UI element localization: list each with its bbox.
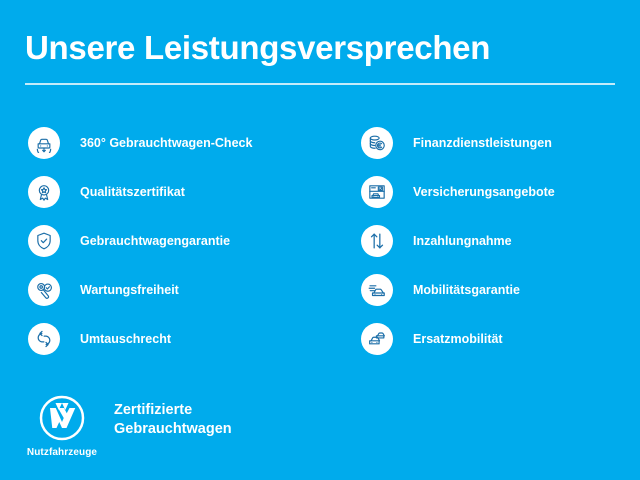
promise-item-wartungsfreiheit: Wartungsfreiheit: [28, 274, 328, 306]
promise-label: Ersatzmobilität: [413, 331, 503, 347]
exchange-arrows-icon: [28, 323, 60, 355]
service-promises-slide: Unsere Leistungsversprechen 360° Gebrauc…: [0, 0, 640, 480]
page-title: Unsere Leistungsversprechen: [25, 28, 490, 68]
brand-logo-subtitle: Nutzfahrzeuge: [27, 447, 97, 458]
promise-item-ersatzmobilitaet: Ersatzmobilität: [361, 323, 631, 355]
promise-label: Finanzdienstleistungen: [413, 135, 552, 151]
promise-item-umtauschrecht: Umtauschrecht: [28, 323, 328, 355]
promise-item-inzahlungnahme: Inzahlungnahme: [361, 225, 631, 257]
promise-label: Qualitätszertifikat: [80, 184, 185, 200]
insurance-document-car-icon: [361, 176, 393, 208]
coins-euro-icon: [361, 127, 393, 159]
shield-check-icon: [28, 225, 60, 257]
promise-label: Inzahlungnahme: [413, 233, 512, 249]
promise-label: Umtauschrecht: [80, 331, 171, 347]
wrench-check-icon: [28, 274, 60, 306]
brand-logo-wrap: Nutzfahrzeuge: [24, 393, 100, 458]
promise-item-gebrauchtwagengarantie: Gebrauchtwagengarantie: [28, 225, 328, 257]
promise-label: Versicherungsangebote: [413, 184, 555, 200]
promise-label: Wartungsfreiheit: [80, 282, 179, 298]
car-inspection-icon: [28, 127, 60, 159]
brand-claim-line-2: Gebrauchtwagen: [114, 420, 232, 439]
promise-item-mobilitaetsgarantie: Mobilitätsgarantie: [361, 274, 631, 306]
brand-claim: Zertifizierte Gebrauchtwagen: [114, 401, 232, 439]
promise-list-right: Finanzdienstleistungen Versicherungsange…: [361, 127, 631, 372]
vw-roundel-icon: [37, 393, 87, 443]
promise-list-left: 360° Gebrauchtwagen-Check Qualitätszerti…: [28, 127, 328, 372]
up-down-arrows-icon: [361, 225, 393, 257]
award-rosette-icon: [28, 176, 60, 208]
promise-item-versicherungsangebote: Versicherungsangebote: [361, 176, 631, 208]
promise-item-gebrauchtwagen-check: 360° Gebrauchtwagen-Check: [28, 127, 328, 159]
promise-item-qualitaetszertifikat: Qualitätszertifikat: [28, 176, 328, 208]
car-mobility-icon: [361, 274, 393, 306]
promise-item-finanzdienstleistungen: Finanzdienstleistungen: [361, 127, 631, 159]
brand-block: Nutzfahrzeuge Zertifizierte Gebrauchtwag…: [24, 393, 232, 458]
promise-label: Mobilitätsgarantie: [413, 282, 520, 298]
brand-claim-line-1: Zertifizierte: [114, 401, 232, 420]
promise-label: 360° Gebrauchtwagen-Check: [80, 135, 252, 151]
two-cars-icon: [361, 323, 393, 355]
title-divider: [25, 83, 615, 85]
promise-label: Gebrauchtwagengarantie: [80, 233, 230, 249]
